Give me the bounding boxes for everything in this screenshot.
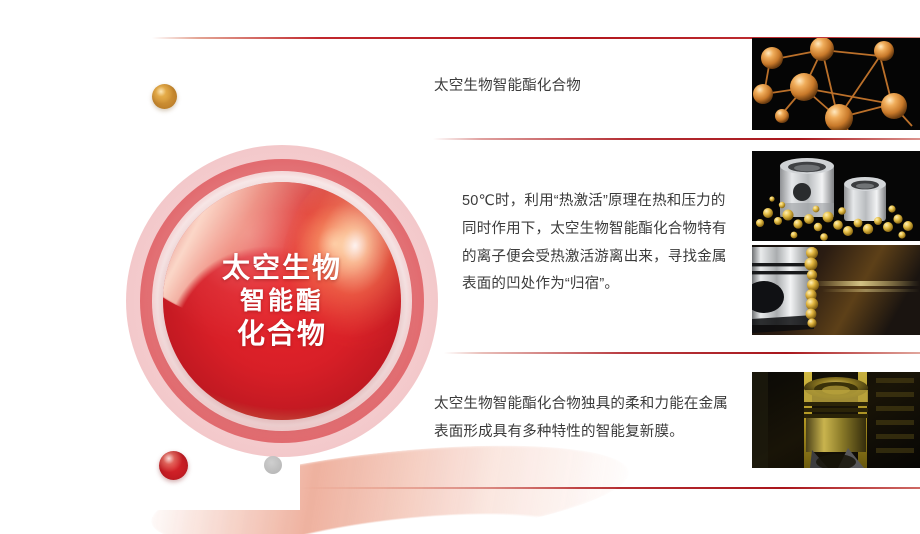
piston-cross-section-photo (752, 245, 920, 335)
pistons-with-gold-particles-photo (752, 151, 920, 241)
section-2-text: 50℃时，利用“热激活”原理在热和压力的同时作用下，太空生物智能酯化合物特有的离… (462, 188, 740, 299)
slide-canvas: 太空生物 智能酯 化合物 太空生物智能酯化合物 50℃时，利用“热激活”原理在热… (0, 0, 920, 534)
center-sphere-line-2: 智能酯 (240, 286, 324, 317)
molecular-structure-photo (752, 38, 920, 130)
piston-in-cylinder-photo (752, 372, 920, 468)
gold-sphere-icon (152, 84, 177, 109)
section-3-text: 太空生物智能酯化合物独具的柔和力能在金属表面形成具有多种特性的智能复新膜。 (434, 391, 736, 447)
gray-dot-icon (264, 456, 282, 474)
divider-mid-1 (433, 138, 920, 140)
center-sphere-line-1: 太空生物 (222, 251, 342, 286)
section-1-text: 太空生物智能酯化合物 (434, 73, 734, 101)
center-sphere-label: 太空生物 智能酯 化合物 (163, 182, 401, 420)
red-sphere-icon (159, 451, 188, 480)
center-sphere-line-3: 化合物 (237, 317, 327, 352)
